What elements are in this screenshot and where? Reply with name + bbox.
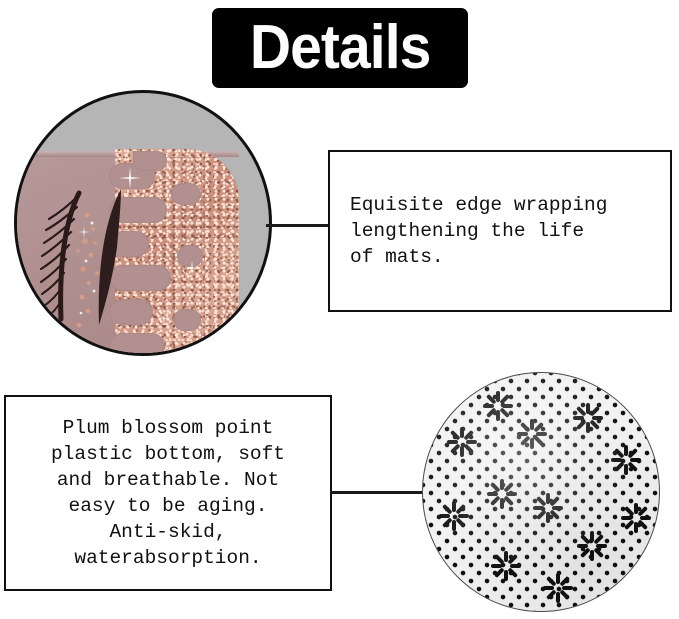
anti-skid-backing-photo	[422, 372, 660, 612]
page-title: Details	[250, 17, 431, 79]
blossom-rosette	[571, 401, 605, 435]
eyeliner-stroke	[99, 189, 121, 325]
sparkle-icon	[191, 260, 192, 275]
callout-edge-wrapping: Equisite edge wrapping lengthening the l…	[328, 150, 672, 312]
blossom-rosette	[437, 499, 471, 533]
blossom-rosette	[489, 549, 523, 583]
blossom-rosette	[485, 477, 519, 511]
callout-bottom-text: Plum blossom point plastic bottom, soft …	[16, 415, 320, 571]
blossom-rosette	[619, 501, 653, 535]
scallop-notch	[133, 151, 167, 171]
connector-line-edge	[266, 224, 330, 227]
sparkle-icon	[163, 311, 164, 324]
blossom-rosette	[541, 571, 575, 605]
blossom-rosette	[481, 389, 515, 423]
scallop-notch	[171, 183, 201, 205]
blossom-rosette	[445, 425, 479, 459]
scallop-notch	[173, 309, 201, 331]
blossom-rosette	[575, 529, 609, 563]
blossom-rosette	[609, 443, 643, 477]
blossom-rosette	[515, 417, 549, 451]
callout-edge-text: Equisite edge wrapping lengthening the l…	[350, 192, 670, 270]
connector-line-backing	[330, 491, 430, 494]
callout-plum-blossom: Plum blossom point plastic bottom, soft …	[4, 395, 332, 591]
product-details-infographic: Details	[0, 0, 679, 619]
blossom-rosette	[531, 491, 565, 525]
eyelash-design-art	[35, 185, 155, 345]
scallop-notch	[177, 245, 203, 267]
edge-wrapping-photo	[14, 90, 272, 356]
details-title-banner: Details	[212, 8, 468, 88]
